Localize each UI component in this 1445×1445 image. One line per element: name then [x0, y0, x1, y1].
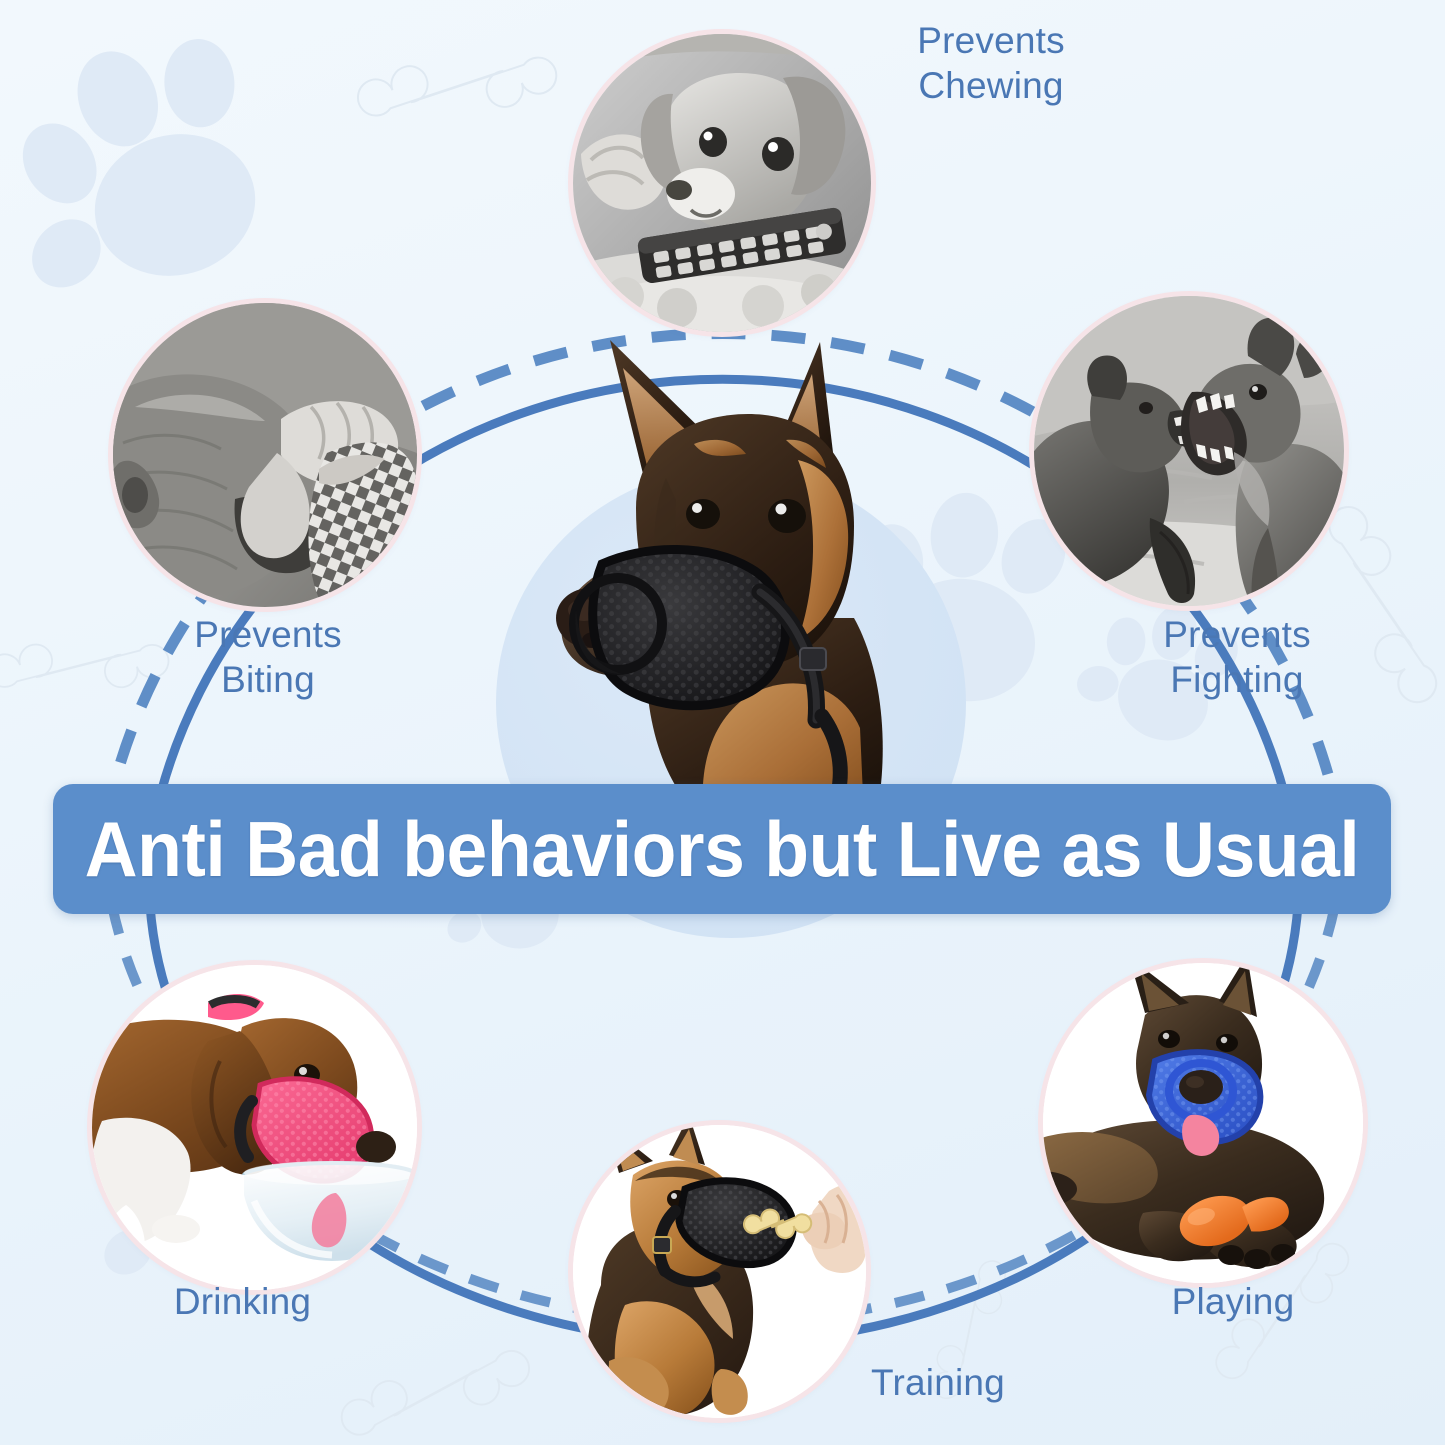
feature-label-training: Training — [808, 1360, 1068, 1405]
center-dog-photo-icon — [498, 318, 938, 818]
playing-photo-icon — [1043, 963, 1363, 1283]
feature-label-playing: Playing — [1113, 1279, 1353, 1324]
feature-label-drinking: Drinking — [120, 1279, 365, 1324]
feature-label-biting: Prevents Biting — [132, 612, 404, 702]
headline-banner: Anti Bad behaviors but Live as Usual — [53, 784, 1391, 914]
biting-photo-icon — [113, 303, 417, 607]
feature-label-fighting: Prevents Fighting — [1092, 612, 1382, 702]
feature-circle-fighting[interactable] — [1034, 296, 1344, 606]
feature-circle-biting[interactable] — [113, 303, 417, 607]
drinking-photo-icon — [92, 965, 417, 1290]
feature-circle-chewing[interactable] — [573, 34, 871, 332]
chewing-photo-icon — [573, 34, 871, 332]
infographic-canvas: Prevents Chewing — [0, 0, 1445, 1445]
feature-circle-drinking[interactable] — [92, 965, 417, 1290]
feature-label-chewing: Prevents Chewing — [856, 18, 1126, 108]
fighting-photo-icon — [1034, 296, 1344, 606]
headline-text: Anti Bad behaviors but Live as Usual — [85, 804, 1360, 895]
feature-circle-playing[interactable] — [1043, 963, 1363, 1283]
